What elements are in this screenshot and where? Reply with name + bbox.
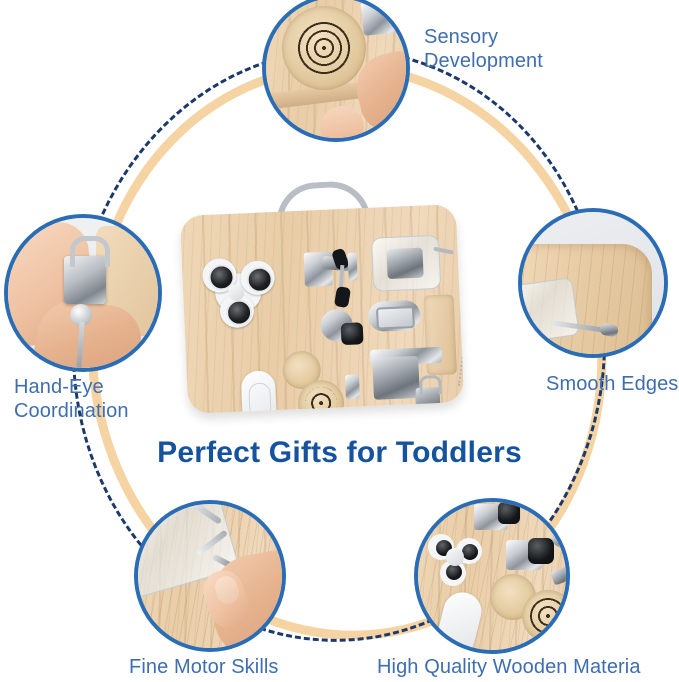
feature-label-fine-motor-skills: Fine Motor Skills [129, 656, 279, 680]
spiral-gear [282, 6, 366, 90]
feature-label-sensory-development: Sensory Development [424, 26, 543, 73]
dial-knob [341, 322, 364, 345]
crank-mechanism [386, 248, 423, 280]
fidget-spinner [195, 250, 280, 332]
feature-photo-high-quality-wooden-material [414, 498, 570, 654]
feature-photo-fine-motor-skills [134, 500, 286, 652]
center-product-photo [176, 172, 472, 420]
bolt-bracket [372, 356, 420, 400]
feature-photo-smooth-edges [518, 208, 668, 358]
clear-fixture [522, 277, 580, 344]
feature-label-hand-eye-coordination: Hand-Eye Coordination [14, 376, 129, 423]
feature-label-smooth-edges: Smooth Edges [546, 373, 678, 397]
knob-black-top [498, 502, 520, 524]
chain [436, 343, 464, 386]
feature-photo-hand-eye-coordination [4, 214, 162, 372]
gear-right-spiral [522, 590, 566, 642]
oval-button-inner [248, 382, 272, 414]
spiral-gear-pattern [295, 19, 352, 76]
gear-spiral-pattern [305, 387, 338, 414]
infographic-canvas: Sensory Development Hand-Eye Coordinatio… [0, 0, 679, 682]
busy-board [180, 204, 464, 414]
latch-plate-small [348, 252, 358, 280]
feature-photo-sensory-development [262, 0, 410, 142]
hinge-plate [360, 0, 401, 36]
oval-latch-inner [376, 306, 415, 330]
gear-right-spiral-pattern [530, 598, 565, 633]
padlock-shackle-left [70, 236, 110, 267]
knob-black-mid [528, 538, 554, 564]
feature-label-high-quality-wooden-material: High Quality Wooden Materia [377, 656, 641, 680]
page-headline: Perfect Gifts for Toddlers [0, 436, 679, 470]
hinge-small [345, 374, 360, 399]
spinner-small [424, 530, 486, 588]
